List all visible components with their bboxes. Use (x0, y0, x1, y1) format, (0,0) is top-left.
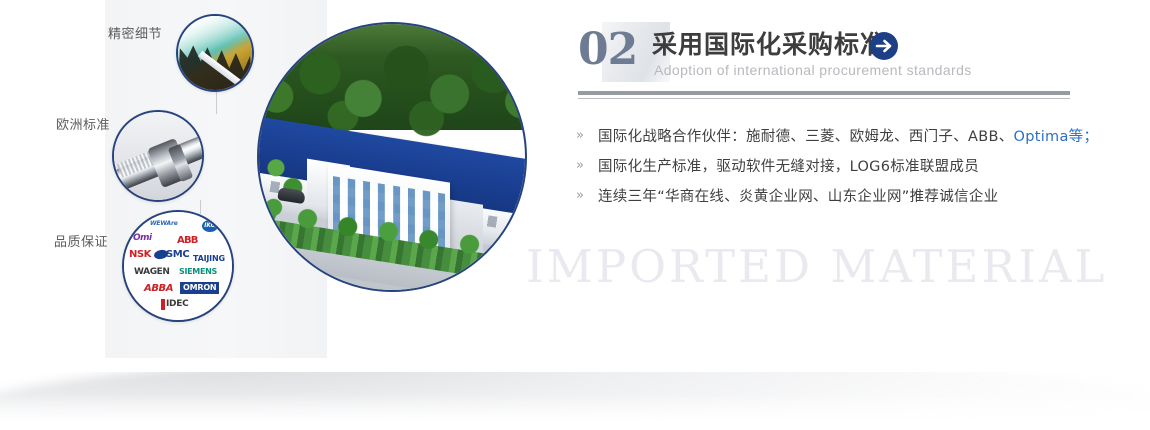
label-precision-detail: 精密细节 (108, 23, 162, 42)
right-content-column: 02 采用国际化采购标准 Adoption of international p… (576, 0, 1150, 430)
bullet-text-1: 国际化战略合作伙伴：施耐德、三菱、欧姆龙、西门子、ABB、Optima等； (598, 125, 1098, 146)
chevron-double-right-icon: » (576, 158, 598, 173)
logo-iko: IKO (202, 220, 218, 232)
factory-hero-image (257, 22, 527, 292)
logo-smc: SMC (166, 250, 189, 260)
bullet-1-pre: 国际化战略合作伙伴：施耐德、三菱、欧姆龙、西门子、ABB、 (598, 129, 1014, 145)
logo-omron: OMRON (180, 282, 219, 294)
brand-logo-list: WEWAre IKO Omi ABB NSK SMC TAIJING WAGEN… (124, 212, 232, 320)
logo-idec: IDEC (166, 300, 188, 309)
label-quality-assurance: 品质保证 (54, 231, 108, 250)
list-item: » 连续三年“华商在线、炎黄企业网、山东企业网”推荐诚信企业 (576, 180, 1096, 210)
logo-taijing: TAIJING (193, 255, 225, 263)
chevron-double-right-icon: » (576, 128, 598, 143)
logo-weware: WEWAre (150, 221, 178, 227)
logo-omi: Omi (133, 234, 152, 243)
label-european-standard: 欧洲标准 (56, 114, 110, 133)
logo-siemens: SIEMENS (179, 268, 217, 276)
european-standard-circle-image (112, 110, 204, 202)
precision-detail-circle-image (176, 14, 254, 92)
list-item: » 国际化战略合作伙伴：施耐德、三菱、欧姆龙、西门子、ABB、Optima等； (576, 120, 1096, 150)
feature-bullet-list: » 国际化战略合作伙伴：施耐德、三菱、欧姆龙、西门子、ABB、Optima等； … (576, 120, 1096, 210)
connector-line-1 (216, 92, 217, 114)
bullet-text-2: 国际化生产标准，驱动软件无缝对接，LOG6标准联盟成员 (598, 155, 979, 176)
list-item: » 国际化生产标准，驱动软件无缝对接，LOG6标准联盟成员 (576, 150, 1096, 180)
bullet-1-accent: Optima (1014, 129, 1069, 145)
watermark-text: IMPORTED MATERIAL (526, 240, 1146, 293)
gear-teeth-icon (178, 16, 252, 90)
logo-wagen: WAGEN (134, 268, 170, 277)
arrow-right-circle-icon[interactable] (868, 30, 900, 62)
section-number: 02 (578, 24, 637, 75)
logo-nsk: NSK (129, 250, 151, 260)
logo-abb: ABB (177, 236, 198, 246)
chevron-double-right-icon: » (576, 188, 598, 203)
page-subtitle: Adoption of international procurement st… (654, 62, 972, 78)
logo-abba: ABBA (144, 284, 173, 294)
quality-assurance-logos-circle: WEWAre IKO Omi ABB NSK SMC TAIJING WAGEN… (122, 210, 234, 322)
divider-thick-line (578, 91, 1070, 95)
bullet-1-post: 等； (1069, 129, 1099, 145)
bullet-text-3: 连续三年“华商在线、炎黄企业网、山东企业网”推荐诚信企业 (598, 185, 998, 206)
page-title: 采用国际化采购标准 (652, 25, 886, 61)
promo-banner: 精密细节 欧洲标准 品质保证 WEWAre IKO Omi ABB NSK SM… (0, 0, 1150, 430)
divider-thin-line (578, 98, 1070, 99)
header-divider (578, 91, 1070, 99)
